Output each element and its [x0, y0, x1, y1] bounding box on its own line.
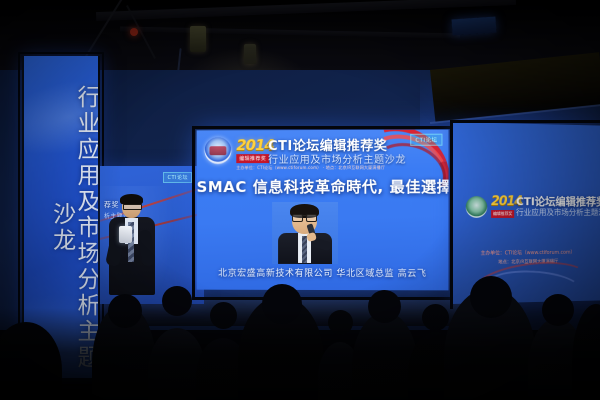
slide-year-tag: 编辑推荐奖 [491, 210, 514, 218]
slide-main-title: SMAC 信息科技革命時代, 最佳選擇! [197, 176, 449, 197]
portrait-glasses-lens-right [306, 214, 317, 222]
slide-subheading: 行业应用及市场分析主题沙龙 [516, 207, 600, 218]
truss-diagonal [84, 0, 123, 59]
audience-head [368, 290, 401, 323]
audience-head [262, 284, 302, 324]
slide-year-tag: 编辑推荐奖 [236, 154, 269, 163]
audience-head [162, 286, 192, 316]
lighting-truss-beam-secondary [120, 26, 460, 38]
audience-member [0, 322, 62, 400]
audience-head [470, 276, 512, 318]
cti-logo-icon: CTI论坛 [163, 172, 192, 183]
award-seal-icon [466, 196, 487, 218]
audience-member [572, 304, 600, 400]
lighting-truss-beam [96, 0, 516, 21]
blue-light-panel [451, 16, 496, 35]
audience-head [422, 304, 449, 331]
cti-logo-icon: CTI论坛 [410, 134, 442, 146]
conference-photo-scene: 行业应用及市场分析主题沙龙 CTI论坛 荐奖 析主题沙龙 2014 编辑推荐奖 … [0, 0, 600, 400]
indicator-light [130, 28, 138, 36]
audience-head [108, 294, 142, 328]
award-seal-icon [205, 137, 232, 164]
audience-silhouettes [0, 250, 600, 400]
audience-head [210, 302, 237, 329]
stage-light-fixture [244, 44, 256, 64]
portrait-glasses-lens-left [292, 214, 303, 222]
audience-head [542, 294, 574, 326]
award-seal-inner [209, 146, 226, 155]
handheld-device-icon [119, 226, 132, 243]
presenter-glasses-icon [123, 204, 142, 210]
audience-head [328, 310, 353, 335]
stage-light-fixture [190, 26, 206, 52]
